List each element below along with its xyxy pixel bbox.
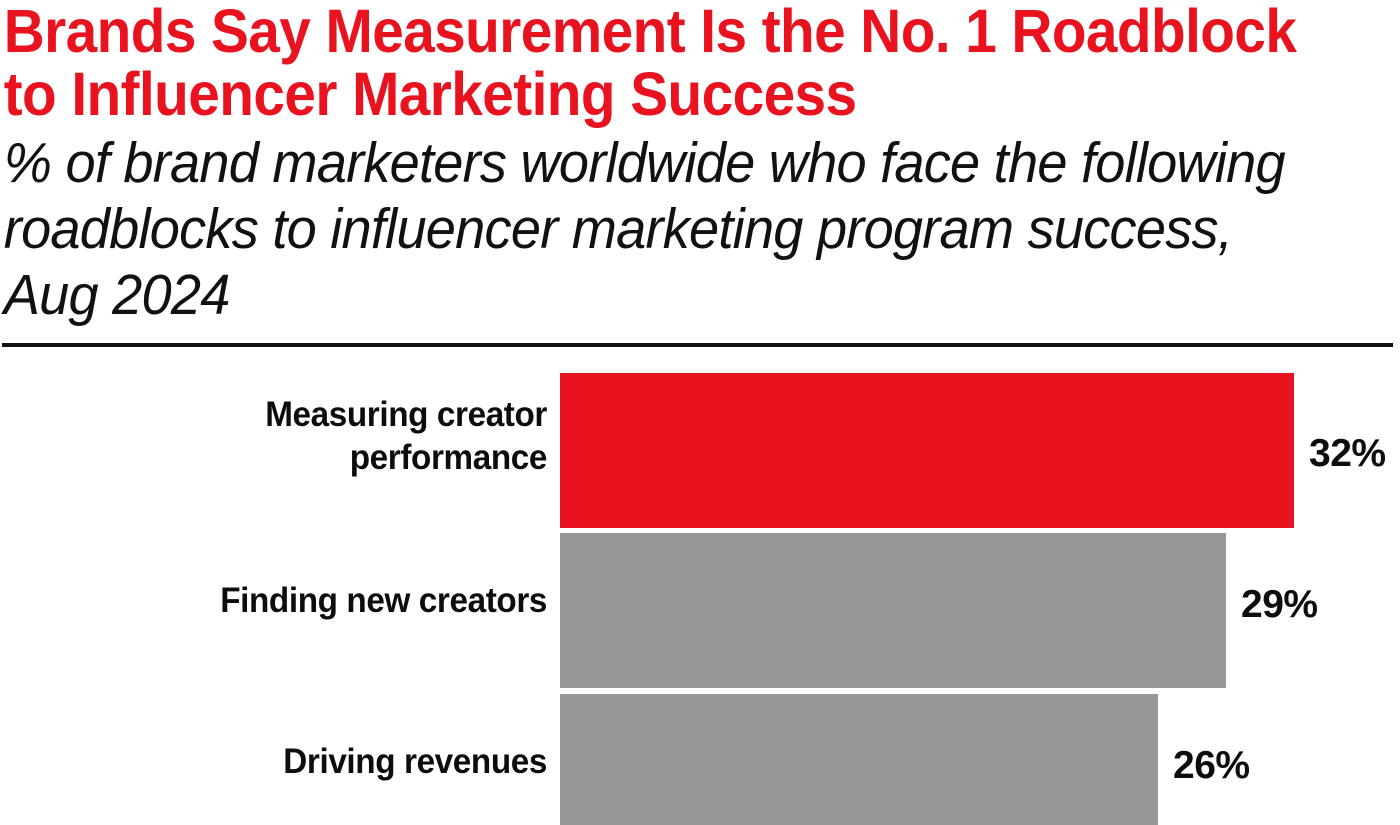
page-title: Brands Say Measurement Is the No. 1 Road…	[0, 0, 1302, 126]
bar-value-label: 32%	[1309, 434, 1386, 473]
bar-chart: Measuring creator performance 32% Findin…	[0, 371, 1400, 825]
header-divider	[2, 343, 1393, 347]
bar-measuring-creator-performance	[560, 373, 1294, 528]
bar-driving-revenues	[560, 694, 1158, 825]
chart-header: Brands Say Measurement Is the No. 1 Road…	[0, 0, 1400, 328]
bar-category-label: Finding new creators	[27, 579, 547, 622]
bar-category-label: Driving revenues	[27, 740, 547, 783]
bar-value-label: 29%	[1241, 585, 1318, 624]
chart-page: Brands Say Measurement Is the No. 1 Road…	[0, 0, 1400, 825]
bar-finding-new-creators	[560, 533, 1226, 688]
page-subtitle: % of brand marketers worldwide who face …	[0, 126, 1330, 328]
bar-value-label: 26%	[1173, 746, 1250, 785]
bar-category-label: Measuring creator performance	[27, 393, 547, 479]
